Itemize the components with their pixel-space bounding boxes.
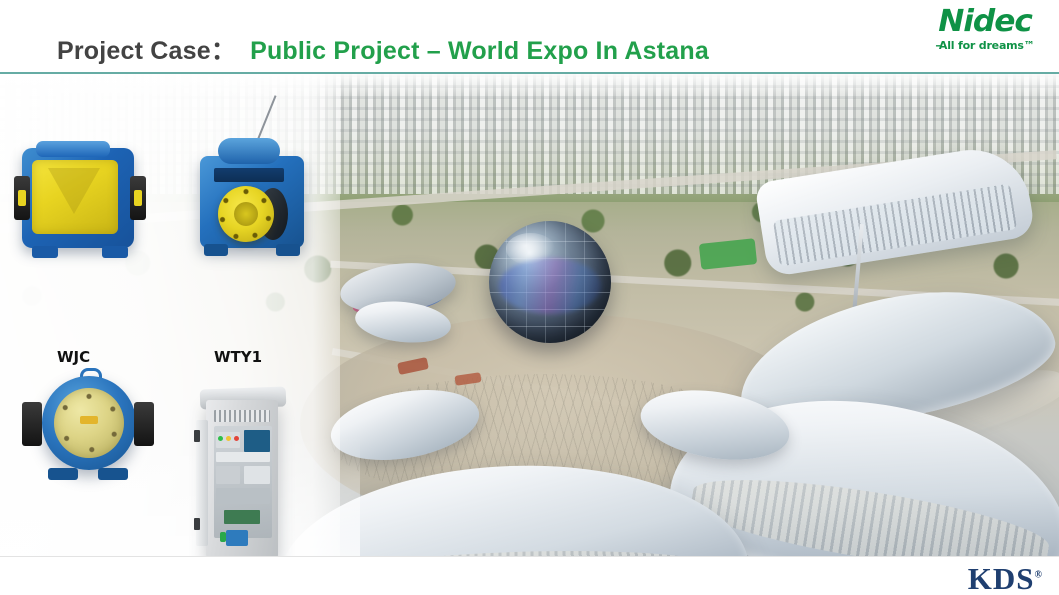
wty1-foot-right [276,244,300,256]
wjc-brake-left [14,176,30,220]
kmc-wiring-bundle [226,530,248,546]
kds-logo-text: KDS [968,561,1035,595]
background-photo: WJC WTY1 WJC-A KMC-1000 Integrated eleva… [0,74,1059,556]
wty1-nameplate [214,168,284,182]
wjc-foot-left [32,246,58,258]
kmc-led-red [234,436,239,441]
wjc-yellow-body [32,160,118,234]
nidec-tagline-text: All for dreams [939,39,1024,52]
nidec-tagline-mark: ™ [1024,39,1035,52]
kmc-hinge-top [194,430,200,442]
product-image-kmc-1000 [196,386,292,556]
kmc-board-1 [244,430,270,452]
header-divider [0,72,1059,74]
kmc-led-yellow [226,436,231,441]
product-label-wty1: WTY1 [214,348,262,366]
kmc-board-5 [244,466,270,484]
wty1-foot-left [204,244,228,256]
page-title: Project Case：Public Project – World Expo… [57,31,709,67]
kmc-board-6 [216,488,270,504]
product-image-wjc [14,144,146,254]
slide: Project Case：Public Project – World Expo… [0,0,1059,595]
product-image-wty1 [196,132,308,258]
page-title-main: Public Project – World Expo In Astana [250,37,709,65]
slide-footer: KDS® [0,556,1059,595]
kmc-board-3 [216,452,270,462]
nidec-logo: Nidec –All for dreams™ [925,7,1045,59]
wjca-foot-right [98,468,128,480]
kmc-hinge-bottom [194,518,200,530]
wjc-brake-right [130,176,146,220]
kmc-led-green [218,436,223,441]
wjca-brake-right [134,402,154,446]
kds-logo-mark: ® [1035,570,1043,581]
nidec-logo-wordmark: Nidec [923,7,1048,37]
sphere-light-band [499,258,601,314]
product-image-wjca [22,374,154,480]
nur-alem-sphere [489,221,611,343]
wjca-brake-left [22,402,42,446]
nidec-logo-tagline: –All for dreams™ [925,39,1045,52]
wjc-foot-right [102,246,128,258]
kds-logo: KDS® [968,561,1043,595]
wty1-motor-drum [218,138,280,164]
kmc-vent-louvers [214,410,270,422]
photo-top-fade [0,74,1059,100]
product-label-wjc: WJC [57,348,90,366]
wjca-foot-left [48,468,78,480]
wty1-sheave-bolts [218,186,274,242]
kmc-board-7 [224,510,260,524]
sphere-highlight [506,233,555,265]
kmc-internal-panel [214,426,272,538]
wjca-rotor-bolts [54,388,124,458]
page-title-prefix: Project Case： [57,37,236,65]
kmc-board-4 [216,466,240,484]
slide-header: Project Case：Public Project – World Expo… [0,0,1059,74]
